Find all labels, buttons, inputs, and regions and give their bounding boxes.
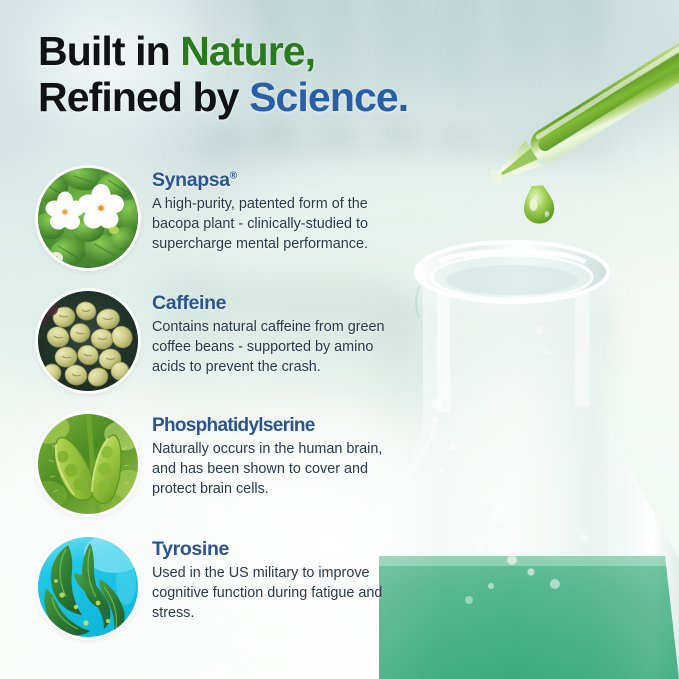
headline-built-in: Built in xyxy=(38,28,180,74)
ingredient-infographic-poster: Built in Nature, Refined by Science. xyxy=(0,0,679,679)
ingredient-name: Synapsa® xyxy=(152,169,410,192)
ingredient-name-text: Synapsa xyxy=(152,169,230,191)
ingredient-text: Caffeine Contains natural caffeine from … xyxy=(152,292,410,378)
soybean-pods-photo xyxy=(38,414,138,514)
headline-refined-by: Refined by xyxy=(38,74,249,120)
ingredient-name-text: Tyrosine xyxy=(152,538,229,560)
ingredient-text: Phosphatidylserine Naturally occurs in t… xyxy=(152,415,410,500)
ingredient-name: Caffeine xyxy=(152,292,410,315)
ingredient-description: A high-purity, patented form of the baco… xyxy=(152,195,410,255)
list-item: Synapsa® A high-purity, patented form of… xyxy=(0,163,430,286)
list-item: Tyrosine Used in the US military to impr… xyxy=(0,532,430,655)
ingredient-list: Synapsa® A high-purity, patented form of… xyxy=(0,163,430,655)
green-coffee-beans-photo xyxy=(38,291,138,391)
ingredient-description: Used in the US military to improve cogni… xyxy=(152,564,410,624)
headline-science: Science. xyxy=(249,74,408,120)
ingredient-text: Synapsa® A high-purity, patented form of… xyxy=(152,169,410,255)
list-item: Caffeine Contains natural caffeine from … xyxy=(0,286,430,409)
seaweed-kelp-photo xyxy=(38,537,138,637)
registered-trademark-icon: ® xyxy=(230,171,237,182)
ingredient-name: Tyrosine xyxy=(152,538,410,561)
headline-line-1: Built in Nature, xyxy=(38,28,578,74)
headline-line-2: Refined by Science. xyxy=(38,74,578,120)
ingredient-text: Tyrosine Used in the US military to impr… xyxy=(152,538,410,624)
ingredient-name-text: Phosphatidylserine xyxy=(152,415,315,436)
ingredient-description: Naturally occurs in the human brain, and… xyxy=(152,440,410,500)
falling-green-droplet xyxy=(524,186,554,224)
ingredient-name-text: Caffeine xyxy=(152,292,226,314)
page-title: Built in Nature, Refined by Science. xyxy=(38,28,578,121)
headline-nature: Nature, xyxy=(180,28,315,74)
ingredient-description: Contains natural caffeine from green cof… xyxy=(152,318,410,378)
list-item: Phosphatidylserine Naturally occurs in t… xyxy=(0,409,430,532)
ingredient-name: Phosphatidylserine xyxy=(152,415,410,437)
bacopa-flower-photo xyxy=(38,168,138,268)
